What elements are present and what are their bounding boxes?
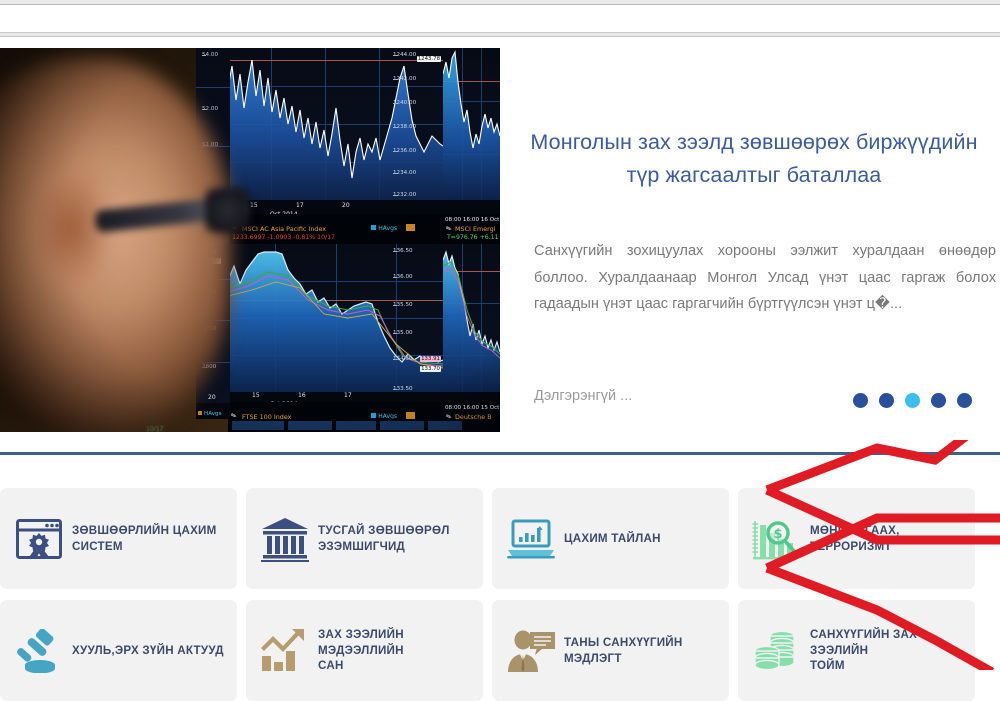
tile-market-information-database[interactable]: ЗАХ ЗЭЭЛИЙН МЭДЭЭЛЛИЙН САН	[246, 600, 483, 701]
carousel-dot-1[interactable]	[853, 393, 868, 408]
panel-expand-icon	[406, 412, 415, 419]
coin-stacks-icon	[748, 620, 806, 682]
tile-licensing-electronic-system[interactable]: ЗӨВШӨӨРЛИЙН ЦАХИМ СИСТЕМ	[0, 488, 237, 589]
eyeglasses-hinge	[205, 188, 250, 233]
carousel-dot-4[interactable]	[931, 393, 946, 408]
chrome-divider-line-3	[0, 36, 1000, 37]
havgs-legend: HAvgs	[371, 225, 397, 232]
panel-footer: 08:00 16:00 16 Oct 2014 ✎ MSCI Emergi T=…	[443, 214, 500, 244]
terminal-panel-ftse-100: 133.91 133.70 136.50 136.00 135.50 135.0…	[228, 244, 443, 432]
tile-label: САНХҮҮГИЙН ЗАХ ЗЭЭЛИЙН ТОЙМ	[810, 627, 967, 674]
panel-footer: ✎ MSCI AC Asia Pacific Index 1233.6997 -…	[228, 214, 443, 244]
tile-financial-market-overview[interactable]: САНХҮҮГИЙН ЗАХ ЗЭЭЛИЙН ТОЙМ	[738, 600, 975, 701]
read-more-link[interactable]: Дэлгэрэнгүй ...	[534, 388, 632, 404]
hero-photo-trading-screens[interactable]: 1243.78 1244.00 1242.00 1240.00 1238.00 …	[0, 48, 500, 432]
pencil-icon: ✎	[445, 224, 453, 234]
chart-plot-area	[443, 48, 500, 200]
y-axis-labels: 1244.00 1242.00 1240.00 1238.00 1236.00 …	[388, 50, 442, 200]
carousel-dot-2[interactable]	[879, 393, 894, 408]
havgs-legend: HAvgs	[198, 411, 221, 417]
tile-label: МӨНГӨ УГААХ, ТЕРРОРИЗМТ	[810, 523, 967, 554]
terminal-panel-msci-emerging: 08:00 16:00 16 Oct 2014 ✎ MSCI Emergi T=…	[443, 48, 500, 244]
person-speech-bubble-icon	[502, 620, 560, 682]
tile-label: ТАНЫ САНХҮҮГИЙН МЭДЛЭГТ	[564, 635, 721, 666]
tile-financial-literacy[interactable]: ТАНЫ САНХҮҮГИЙН МЭДЛЭГТ	[492, 600, 729, 701]
growth-chart-arrow-icon	[256, 620, 314, 682]
hero-excerpt: Санхүүгийн зохицуулах хорооны ээлжит хур…	[534, 238, 996, 318]
msci-emerging-area-series	[443, 48, 500, 200]
tile-label: ЗӨВШӨӨРЛИЙН ЦАХИМ СИСТЕМ	[72, 523, 217, 554]
x-axis-labels: 15 17 20 Oct 2014	[228, 202, 443, 212]
x-axis-label: 20	[208, 394, 216, 401]
quick-links-grid: ЗӨВШӨӨРЛИЙН ЦАХИМ СИСТЕМ ТУСГАЙ ЗӨВШӨӨРӨ…	[0, 488, 1000, 701]
carousel-dot-5[interactable]	[957, 393, 972, 408]
hero-headline[interactable]: Монголын зах зээлд зөвшөөрөх биржүүдийн …	[518, 126, 990, 192]
browser-chrome-strip	[0, 0, 1000, 48]
tile-label: ЗАХ ЗЭЭЛИЙН МЭДЭЭЛЛИЙН САН	[318, 627, 475, 674]
license-window-badge-icon	[10, 508, 68, 570]
svg-text:$: $	[773, 527, 782, 542]
hero-text-block: Монголын зах зээлд зөвшөөрөх биржүүдийн …	[500, 48, 1000, 432]
carousel-dot-3-active[interactable]	[905, 393, 920, 408]
carousel-pagination[interactable]	[853, 393, 972, 408]
bank-building-icon	[256, 508, 314, 570]
tile-label: ТУСГАЙ ЗӨВШӨӨРӨЛ ЭЗЭМШИГЧИД	[318, 523, 450, 554]
tile-label: ЦАХИМ ТАЙЛАН	[564, 531, 661, 547]
money-laundering-magnifier-icon: $	[748, 508, 806, 570]
gavel-icon	[10, 620, 68, 682]
section-divider	[0, 452, 1000, 455]
laptop-report-icon	[502, 508, 560, 570]
panel-expand-icon	[406, 224, 415, 231]
chart-plot-area	[443, 244, 500, 392]
hero-carousel: 1243.78 1244.00 1242.00 1240.00 1238.00 …	[0, 48, 1000, 432]
tile-electronic-report[interactable]: ЦАХИМ ТАЙЛАН	[492, 488, 729, 589]
tile-label: ХУУЛЬ,ЭРХ ЗҮЙН АКТУУД	[72, 643, 224, 659]
tile-legal-acts[interactable]: ХУУЛЬ,ЭРХ ЗҮЙН АКТУУД	[0, 600, 237, 701]
terminal-panel-deutsche-bank: 08:00 16:00 15 Oct 2014 ✎ Deutsche B T=8…	[443, 244, 500, 432]
monitor-bottom-strip	[228, 419, 500, 432]
tile-special-license-holders[interactable]: ТУСГАЙ ЗӨВШӨӨРӨЛ ЭЗЭМШИГЧИД	[246, 488, 483, 589]
tile-anti-money-laundering[interactable]: $ МӨНГӨ УГААХ, ТЕРРОРИЗМТ	[738, 488, 975, 589]
y-axis-labels: 136.50 136.00 135.50 135.00 134.50 133.5…	[388, 246, 442, 392]
chrome-divider-line-1	[0, 4, 1000, 5]
terminal-panel-msci-asia-pacific: 1243.78 1244.00 1242.00 1240.00 1238.00 …	[228, 48, 443, 244]
deutsche-bank-series	[443, 244, 500, 392]
x-axis-labels: 15 16 17 Oct 2014	[228, 392, 443, 402]
